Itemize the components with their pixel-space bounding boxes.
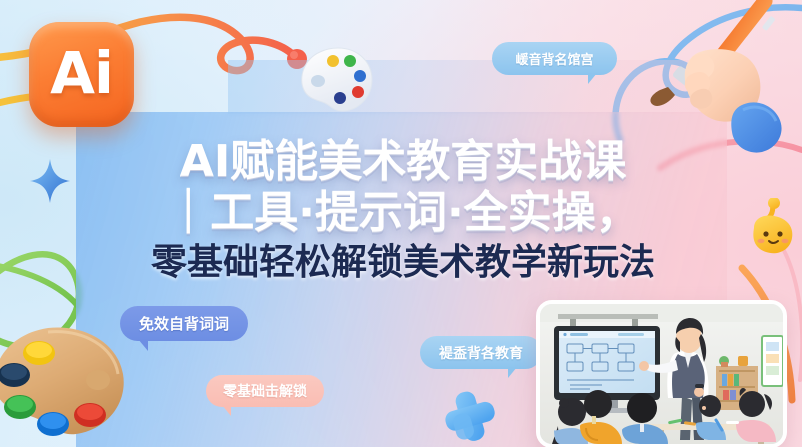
ai-logo: Ai: [29, 22, 134, 127]
pill-badge-2[interactable]: 免效自背词词: [120, 306, 248, 341]
palette-small-icon: [298, 45, 376, 117]
pill-badge-3-label: 褆盉背各教育: [439, 343, 523, 363]
hand-paintbrush-illustration: [648, 0, 802, 154]
promo-banner: Ai: [0, 0, 802, 447]
headline: AI赋能美术教育实战课 ｜工具·提示词·全实操， 零基础轻松解锁美术教学新玩法: [138, 140, 668, 281]
pill-badge-4[interactable]: 零基础击解锁: [206, 375, 324, 407]
classroom-photo: [536, 300, 787, 447]
headline-line-1: AI赋能美术教育实战课: [138, 140, 668, 184]
pill-badge-3[interactable]: 褆盉背各教育: [420, 336, 542, 369]
mascot-icon: [740, 198, 800, 260]
pill-badge-4-label: 零基础击解锁: [223, 381, 307, 401]
headline-line-3: 零基础轻松解锁美术教学新玩法: [138, 245, 668, 281]
ai-logo-text: Ai: [50, 44, 113, 102]
sparkle-icon: [28, 157, 72, 205]
pill-badge-1[interactable]: 嵈音背名馆宫: [492, 42, 617, 75]
headline-line-2: ｜工具·提示词·全实操，: [138, 191, 668, 235]
plus-cross-icon: [432, 385, 510, 447]
pill-badge-2-label: 免效自背词词: [139, 313, 229, 334]
pill-badge-1-label: 嵈音背名馆宫: [515, 49, 593, 68]
palette-large-illustration: [0, 320, 130, 447]
